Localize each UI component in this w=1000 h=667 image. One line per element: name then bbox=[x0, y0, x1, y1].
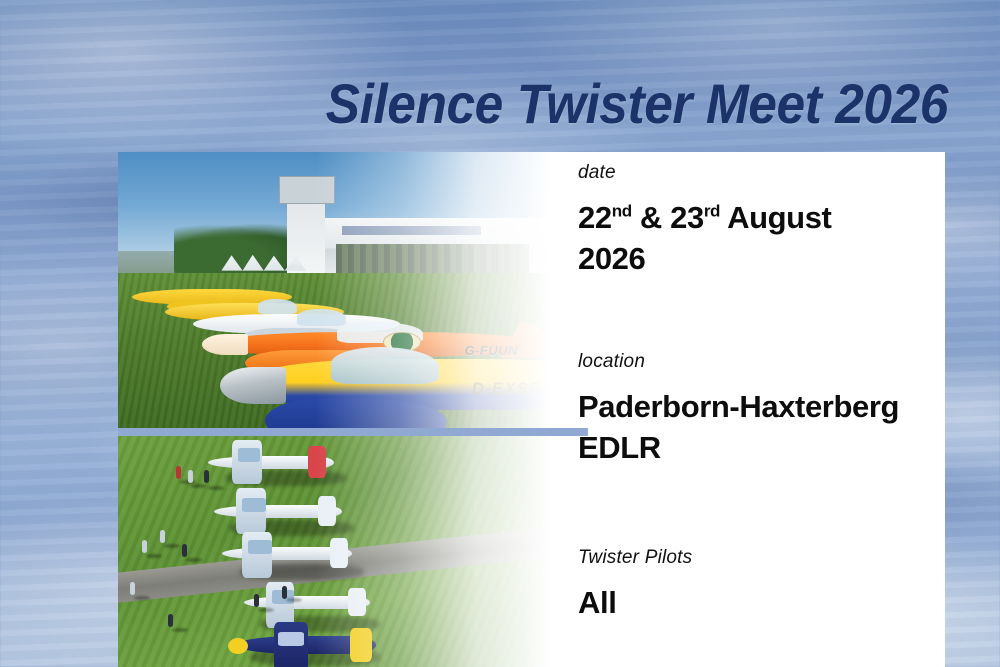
poster-root: Silence Twister Meet 2026 bbox=[0, 0, 1000, 667]
aerial-photo bbox=[118, 436, 588, 667]
info-column: date 22nd & 23rd August 2026 location Pa… bbox=[578, 152, 945, 667]
date-value-line1: 22nd & 23rd August bbox=[578, 198, 831, 239]
date-day1-ordinal: nd bbox=[612, 202, 632, 221]
person bbox=[176, 466, 181, 479]
date-day2-ordinal: rd bbox=[704, 202, 720, 221]
date-value-line2: 2026 bbox=[578, 239, 831, 280]
date-day1: 22 bbox=[578, 200, 612, 235]
flightline-photo-art: G-FUUN D-EXSE bbox=[118, 152, 588, 428]
flightline-photo: G-FUUN D-EXSE bbox=[118, 152, 588, 428]
person bbox=[160, 530, 165, 543]
location-label: location bbox=[578, 351, 899, 373]
person bbox=[142, 540, 147, 553]
hangar-sign bbox=[342, 226, 481, 236]
person bbox=[282, 586, 287, 599]
location-block: location Paderborn-Haxterberg EDLR bbox=[578, 351, 899, 469]
location-value-line2: EDLR bbox=[578, 428, 899, 469]
date-block: date 22nd & 23rd August 2026 bbox=[578, 162, 831, 280]
aerial-aircraft-4 bbox=[244, 584, 374, 620]
photo-divider bbox=[118, 428, 588, 436]
aerial-aircraft-2 bbox=[214, 494, 346, 530]
date-day2: 23 bbox=[670, 200, 704, 235]
aircraft-yellow-blue-dexse: D-EXSE bbox=[240, 351, 588, 428]
photo-column: G-FUUN D-EXSE bbox=[118, 152, 588, 667]
content-panel: G-FUUN D-EXSE bbox=[118, 152, 945, 667]
pilots-value: All bbox=[578, 583, 692, 624]
pilots-block: Twister Pilots All bbox=[578, 547, 692, 624]
aerial-aircraft-5-blue bbox=[226, 622, 386, 667]
person bbox=[254, 594, 259, 607]
location-value-line1: Paderborn-Haxterberg bbox=[578, 387, 899, 428]
person bbox=[188, 470, 193, 483]
photo-hangar bbox=[320, 218, 588, 281]
date-label: date bbox=[578, 162, 831, 184]
person bbox=[204, 470, 209, 483]
registration-d-exse: D-EXSE bbox=[472, 379, 541, 399]
date-ampersand: & bbox=[640, 200, 662, 235]
pilots-label: Twister Pilots bbox=[578, 547, 692, 569]
page-title: Silence Twister Meet 2026 bbox=[76, 76, 948, 132]
aerial-aircraft-3 bbox=[222, 536, 356, 572]
aircraft-spinner bbox=[220, 367, 286, 403]
person bbox=[168, 614, 173, 627]
aerial-photo-art bbox=[118, 436, 588, 667]
person bbox=[182, 544, 187, 557]
aerial-aircraft-1 bbox=[208, 446, 338, 480]
date-month: August bbox=[727, 200, 831, 235]
person bbox=[130, 582, 135, 595]
